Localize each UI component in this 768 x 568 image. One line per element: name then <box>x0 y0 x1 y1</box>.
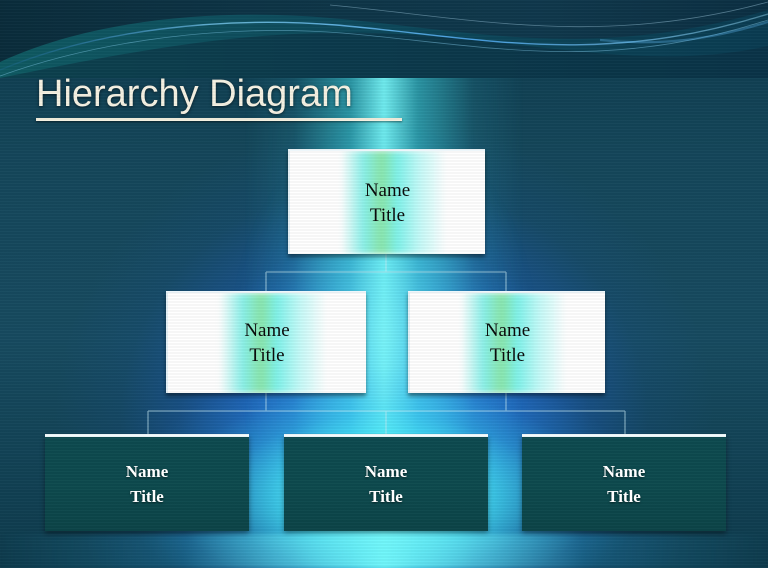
hierarchy-node-top[interactable]: Name Title <box>288 149 485 254</box>
node-name-text: Name <box>365 459 407 484</box>
node-title-text: Title <box>490 343 525 368</box>
node-name-text: Name <box>365 178 410 203</box>
node-title-text: Title <box>249 343 284 368</box>
node-name-text: Name <box>244 318 289 343</box>
node-title-text: Title <box>607 484 641 509</box>
node-name-text: Name <box>126 459 168 484</box>
hierarchy-node-bottom-center[interactable]: Name Title <box>284 434 488 531</box>
node-title-text: Title <box>369 484 403 509</box>
node-title-text: Title <box>370 203 405 228</box>
hierarchy-node-middle-left[interactable]: Name Title <box>166 291 366 393</box>
hierarchy-node-bottom-right[interactable]: Name Title <box>522 434 726 531</box>
node-name-text: Name <box>485 318 530 343</box>
hierarchy-node-middle-right[interactable]: Name Title <box>408 291 605 393</box>
hierarchy-node-bottom-left[interactable]: Name Title <box>45 434 249 531</box>
node-title-text: Title <box>130 484 164 509</box>
slide-canvas: Hierarchy Diagram Name Title <box>0 0 768 568</box>
node-name-text: Name <box>603 459 645 484</box>
